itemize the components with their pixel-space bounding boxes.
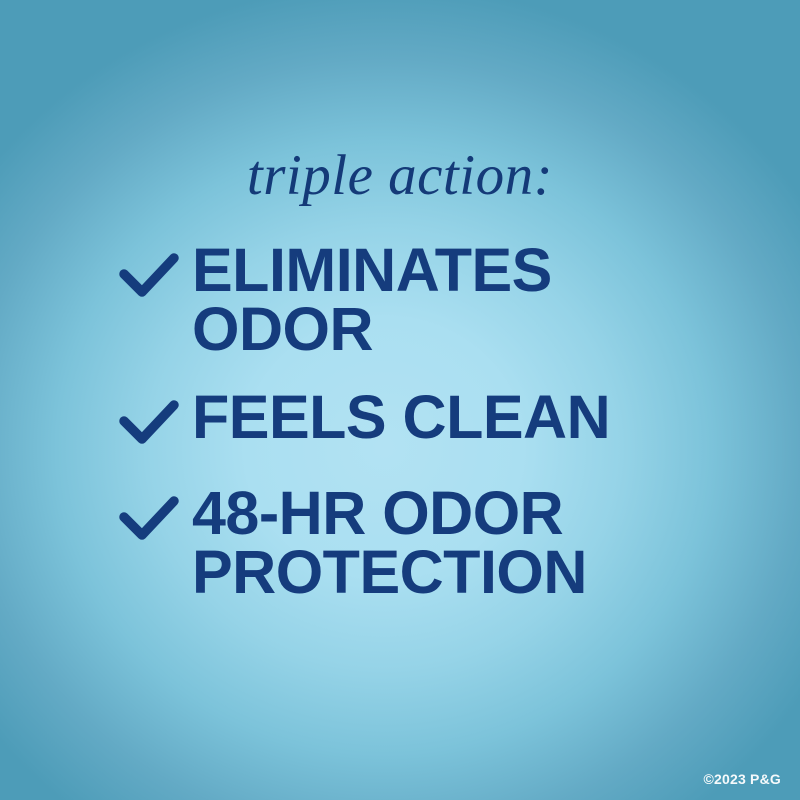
copyright-notice: ©2023 P&G	[704, 771, 782, 787]
benefit-list: ELIMINATES ODOR FEELS CLEAN 48-HR ODOR P…	[118, 240, 718, 603]
promo-card: triple action: ELIMINATES ODOR FEELS CLE…	[0, 0, 800, 800]
page-title: triple action:	[0, 146, 800, 206]
benefit-label: ELIMINATES ODOR	[192, 240, 552, 359]
list-item: FEELS CLEAN	[118, 387, 718, 455]
list-item: 48-HR ODOR PROTECTION	[118, 483, 718, 602]
benefit-label: FEELS CLEAN	[192, 387, 610, 447]
check-icon	[118, 387, 180, 455]
list-item: ELIMINATES ODOR	[118, 240, 718, 359]
check-icon	[118, 240, 180, 308]
benefit-label: 48-HR ODOR PROTECTION	[192, 483, 587, 602]
check-icon	[118, 483, 180, 551]
